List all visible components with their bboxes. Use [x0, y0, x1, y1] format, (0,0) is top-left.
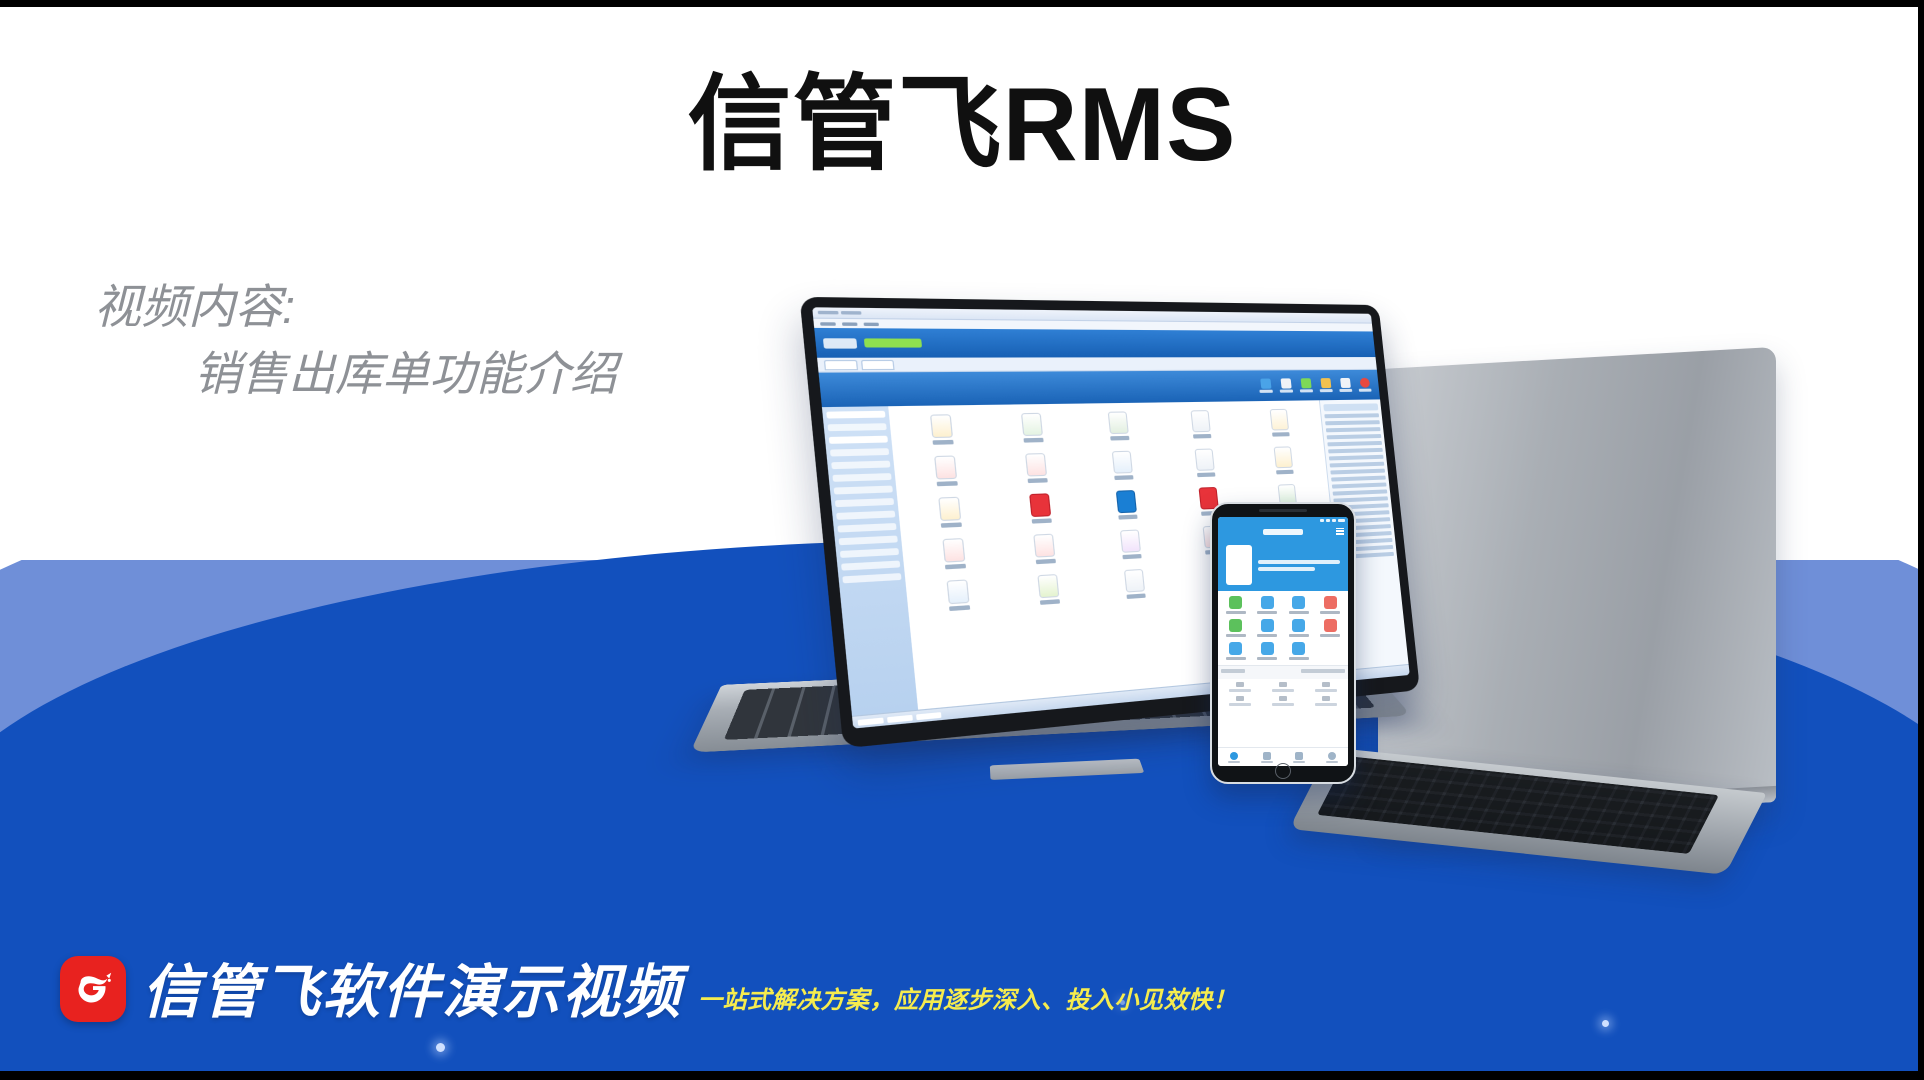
quick-action-item[interactable]: [1221, 619, 1251, 637]
brand-tagline: 一站式解决方案，应用逐步深入、投入小见效快！: [698, 980, 1237, 1022]
ribbon-user-icon[interactable]: [1258, 379, 1273, 393]
presentation-slide: 信管飞RMS 视频内容: 销售出库单功能介绍: [0, 0, 1924, 1080]
app-license-badge: [864, 338, 922, 347]
video-content-label: 视频内容:: [94, 280, 295, 333]
module-tile[interactable]: [989, 412, 1076, 449]
nav-profile-icon[interactable]: [1316, 752, 1349, 763]
app-logo-icon: [823, 338, 857, 348]
video-content-block: 视频内容: 销售出库单功能介绍: [94, 274, 617, 407]
module-tile-highlight[interactable]: [997, 492, 1084, 531]
module-tile[interactable]: [1077, 411, 1160, 447]
hamburger-menu-icon[interactable]: [1336, 528, 1344, 535]
brand-bar: 信管飞软件演示视频 一站式解决方案，应用逐步深入、投入小见效快！: [60, 956, 1237, 1022]
module-tile[interactable]: [1005, 572, 1092, 612]
app-brand-bar: [814, 328, 1375, 358]
ribbon-exit-icon[interactable]: [1358, 378, 1372, 392]
quick-action-item[interactable]: [1221, 596, 1251, 614]
module-tile[interactable]: [1165, 448, 1245, 484]
module-tile[interactable]: [1161, 410, 1241, 445]
smartphone-mobile-app: [1210, 502, 1356, 784]
banner-caption: [1258, 560, 1340, 571]
module-tile[interactable]: [897, 414, 988, 452]
quick-action-item[interactable]: [1253, 642, 1283, 660]
mobile-app-title: [1263, 529, 1303, 535]
phone-illustration-icon: [1226, 545, 1252, 585]
stat-cell[interactable]: [1263, 682, 1304, 692]
stat-cell[interactable]: [1220, 696, 1261, 706]
nav-reports-icon[interactable]: [1251, 752, 1284, 763]
module-tile[interactable]: [913, 577, 1004, 619]
stat-cell[interactable]: [1305, 682, 1346, 692]
stat-cell[interactable]: [1305, 696, 1346, 706]
module-tile[interactable]: [905, 495, 996, 535]
ribbon-doc-icon[interactable]: [1279, 378, 1294, 392]
open-laptop-trackpad: [990, 759, 1144, 780]
letterbox-bottom: [0, 1071, 1924, 1080]
module-tile[interactable]: [1089, 528, 1172, 566]
module-tile-highlight[interactable]: [1085, 489, 1168, 527]
module-tile[interactable]: [1241, 408, 1317, 442]
module-tile[interactable]: [1093, 567, 1176, 606]
xinguanfei-logo-icon: [60, 956, 126, 1022]
mobile-quick-actions[interactable]: [1218, 591, 1348, 665]
letterbox-top: [0, 0, 1924, 7]
module-tile[interactable]: [901, 455, 992, 494]
module-tile[interactable]: [1001, 532, 1088, 571]
module-tile[interactable]: [909, 536, 1000, 577]
page-title: 信管飞RMS: [0, 68, 1924, 182]
quick-action-item[interactable]: [1284, 619, 1314, 637]
quick-action-item[interactable]: [1253, 619, 1283, 637]
mobile-stats-grid[interactable]: [1218, 679, 1348, 709]
closed-silver-laptop: [1378, 347, 1776, 824]
module-tile[interactable]: [1081, 450, 1164, 487]
stats-header: [1221, 669, 1345, 673]
mobile-hero-banner: [1218, 539, 1348, 591]
ribbon-box-icon[interactable]: [1319, 378, 1333, 392]
phone-home-button[interactable]: [1275, 763, 1291, 779]
mobile-stats-section: [1218, 665, 1348, 679]
quick-action-item[interactable]: [1221, 642, 1251, 660]
mobile-app-screen: [1218, 517, 1348, 766]
stat-cell[interactable]: [1220, 682, 1261, 692]
ribbon-report-icon[interactable]: [1338, 378, 1352, 392]
phone-earpiece: [1259, 509, 1307, 512]
video-content-topic: 销售出库单功能介绍: [94, 341, 617, 408]
sparkle-dot: [436, 1043, 445, 1052]
mobile-app-header: [1218, 524, 1348, 539]
module-tile[interactable]: [1245, 446, 1321, 481]
nav-chart-icon[interactable]: [1283, 752, 1316, 763]
ribbon-cart-icon[interactable]: [1299, 378, 1313, 392]
sparkle-dot: [1602, 1020, 1609, 1027]
quick-action-item[interactable]: [1316, 596, 1346, 614]
mobile-status-bar: [1218, 517, 1348, 524]
quick-action-item[interactable]: [1284, 642, 1314, 660]
letterbox-right: [1918, 0, 1924, 1080]
quick-action-item[interactable]: [1284, 596, 1314, 614]
right-panel-tab[interactable]: [1323, 403, 1378, 411]
nav-home-icon[interactable]: [1218, 752, 1251, 763]
module-tile[interactable]: [993, 452, 1080, 490]
device-showcase: [880, 370, 1880, 980]
quick-action-item[interactable]: [1253, 596, 1283, 614]
stat-cell[interactable]: [1263, 696, 1304, 706]
quick-action-item[interactable]: [1316, 619, 1346, 637]
brand-title: 信管飞软件演示视频: [142, 964, 682, 1022]
